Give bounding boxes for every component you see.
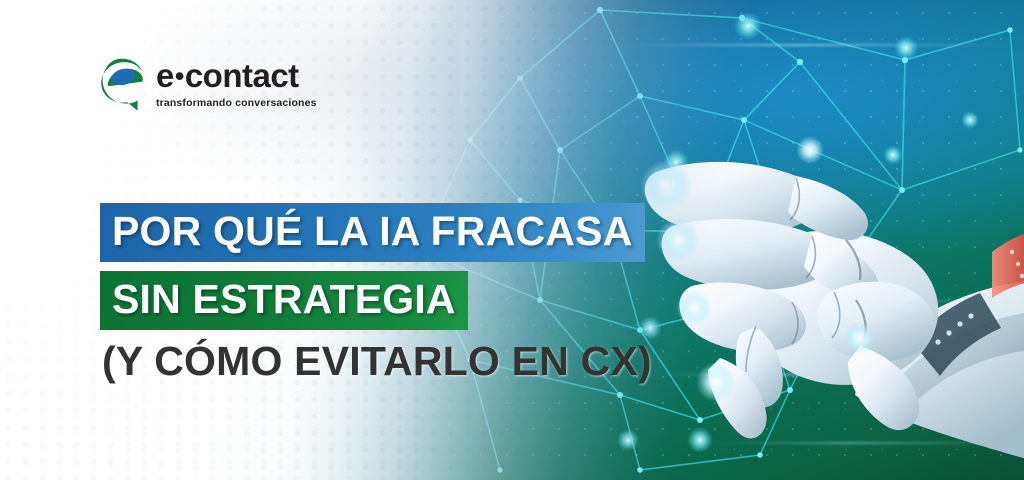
brand-logo[interactable]: e•contact transformando conversaciones xyxy=(100,55,317,111)
headline-block: POR QUÉ LA IA FRACASA SIN ESTRATEGIA (Y … xyxy=(100,203,652,382)
logo-wordmark-right: contact xyxy=(185,57,299,94)
headline-line-2: SIN ESTRATEGIA xyxy=(100,271,468,330)
logo-wordmark: e•contact xyxy=(156,59,317,92)
headline-row-1: POR QUÉ LA IA FRACASA xyxy=(100,203,652,262)
headline-line-3: (Y CÓMO EVITARLO EN CX) xyxy=(100,341,652,382)
headline-line-1: POR QUÉ LA IA FRACASA xyxy=(100,203,645,262)
headline-row-2: SIN ESTRATEGIA xyxy=(100,271,652,330)
logo-tagline: transformando conversaciones xyxy=(156,98,317,109)
logo-wordmark-left: e xyxy=(156,57,174,94)
headline-row-3: (Y CÓMO EVITARLO EN CX) xyxy=(100,330,652,382)
logo-wordmark-block: e•contact transformando conversaciones xyxy=(156,55,317,109)
hero-banner: e•contact transformando conversaciones P… xyxy=(0,0,1024,480)
econtact-swoosh-logo-icon xyxy=(100,55,147,111)
logo-wordmark-separator: • xyxy=(174,61,185,91)
